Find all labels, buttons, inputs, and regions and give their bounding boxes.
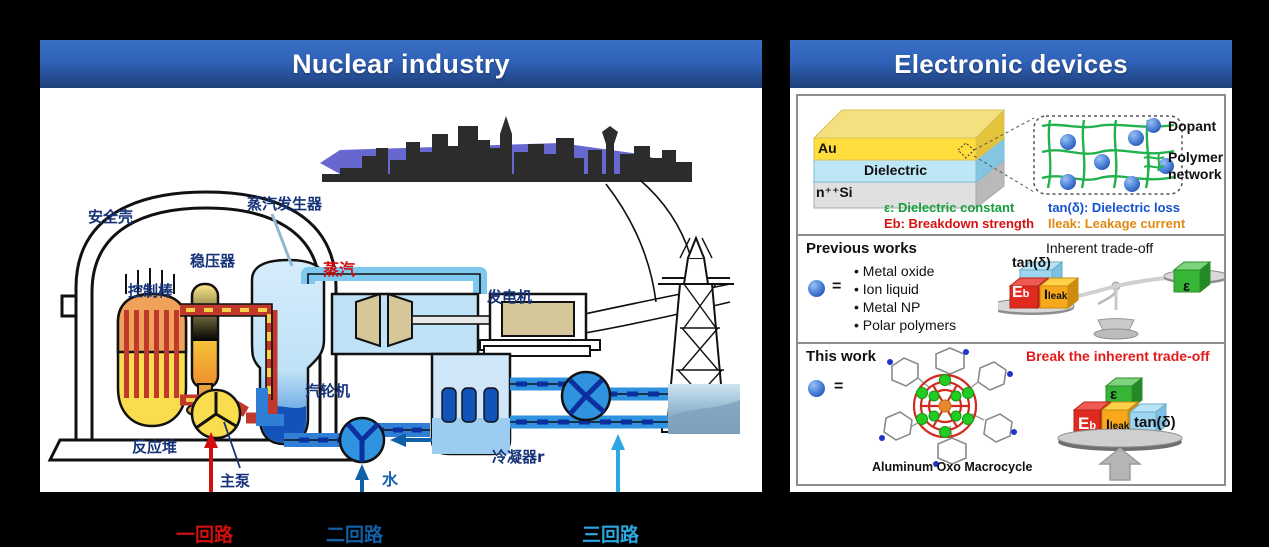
nuclear-plant-diagram: 安全壳 蒸汽发生器 稳压器 控制棒 蒸汽 发电机 汽轮机 反应堆 主泵 冷凝器r… (40, 88, 762, 492)
label-control-rod: 控制棒 (128, 280, 173, 301)
this-work-equals: = (834, 378, 843, 396)
device-section: Au Dielectric n⁺⁺Si Dopant Polymer netwo… (798, 96, 1224, 234)
property-epsilon-symbol: ε: (884, 200, 895, 215)
label-au: Au (818, 140, 837, 156)
label-dielectric: Dielectric (864, 162, 927, 178)
main-pump (192, 390, 240, 438)
label-tertiary-loop: 三回路 (582, 520, 639, 547)
this-work-cube-label-tandelta: tan(δ) (1134, 414, 1176, 431)
label-steam-generator: 蒸汽发生器 (247, 193, 322, 214)
previous-works-equals: = (832, 278, 841, 296)
list-item: • Ion liquid (854, 280, 956, 298)
legend-polymer-icon (1142, 152, 1166, 172)
balance-level-tray (1048, 372, 1218, 484)
label-secondary-loop: 二回路 (326, 520, 383, 547)
label-condenser: 冷凝器r (492, 446, 544, 467)
cube-label-ileak: Ileak (1044, 286, 1067, 302)
label-pressurizer: 稳压器 (190, 250, 235, 271)
property-tandelta-name: Dielectric loss (1092, 200, 1180, 215)
panel-nuclear-industry: Nuclear industry (40, 40, 762, 492)
this-work-section: This work = (798, 344, 1224, 486)
property-ileak-symbol: Ileak: (1048, 216, 1081, 231)
this-work-cube-label-ileak: Ileak (1106, 416, 1129, 432)
dopant-sphere (1060, 134, 1076, 150)
label-main-pump: 主泵 (220, 470, 250, 491)
cube-label-eb: Eb (1012, 284, 1029, 302)
panel-right-title: Electronic devices (790, 40, 1232, 88)
property-epsilon-name: Dielectric constant (898, 200, 1014, 215)
label-turbine: 汽轮机 (305, 380, 350, 401)
list-item: • Metal oxide (854, 262, 956, 280)
cube-group-light (1170, 258, 1216, 298)
label-substrate: n⁺⁺Si (816, 184, 853, 201)
dopant-sphere (1094, 154, 1110, 170)
property-ileak-name: Leakage current (1085, 216, 1185, 231)
inherent-tradeoff-caption: Inherent trade-off (1046, 240, 1153, 256)
this-work-cube-label-epsilon: ε (1110, 386, 1117, 403)
slide-canvas: Nuclear industry (0, 0, 1269, 528)
property-eb-name: Breakdown strength (908, 216, 1034, 231)
electronic-devices-figure: Au Dielectric n⁺⁺Si Dopant Polymer netwo… (796, 94, 1226, 486)
label-containment: 安全壳 (88, 206, 133, 227)
molecule-caption: Aluminum Oxo Macrocycle (872, 460, 1032, 474)
this-work-cube-label-eb: Eb (1078, 414, 1096, 434)
label-reactor: 反应堆 (132, 436, 177, 457)
previous-works-list: • Metal oxide • Ion liquid • Metal NP • … (854, 262, 956, 334)
city-skyline (322, 116, 692, 182)
property-eb-symbol: Eb: (884, 216, 905, 231)
cube-label-tandelta: tan(δ) (1012, 254, 1051, 270)
previous-works-heading: Previous works (806, 240, 917, 257)
dopant-sphere (1124, 176, 1140, 192)
panel-left-title: Nuclear industry (40, 40, 762, 88)
label-steam: 蒸汽 (323, 256, 355, 280)
property-ileak: Ileak: Leakage current (1048, 216, 1185, 231)
property-tandelta: tan(δ): Dielectric loss (1048, 200, 1180, 215)
cube-label-epsilon: ε (1183, 278, 1190, 295)
dopant-sphere (1128, 130, 1144, 146)
aluminum-oxo-macrocycle-structure (860, 344, 1030, 472)
break-tradeoff-caption: Break the inherent trade-off (1026, 348, 1210, 364)
property-epsilon: ε: Dielectric constant (884, 200, 1014, 215)
list-item: • Polar polymers (854, 316, 956, 334)
previous-works-section: Previous works = • Metal oxide • Ion liq… (798, 236, 1224, 342)
previous-works-dopant-icon (808, 280, 825, 297)
label-primary-loop: 一回路 (176, 520, 233, 547)
dopant-sphere (1060, 174, 1076, 190)
legend-dopant-label: Dopant (1168, 118, 1216, 134)
label-generator: 发电机 (487, 286, 532, 307)
legend-dopant-icon (1146, 118, 1161, 133)
legend-polymer-label-line2: network (1168, 166, 1222, 182)
tertiary-loop-piping (510, 372, 668, 422)
label-water: 水 (382, 466, 398, 490)
this-work-dopant-icon (808, 380, 825, 397)
property-eb: Eb: Breakdown strength (884, 216, 1034, 231)
central-atom (939, 400, 951, 412)
sea-water-image (668, 384, 740, 434)
panel-electronic-devices: Electronic devices (790, 40, 1232, 492)
legend-polymer-label-line1: Polymer (1168, 149, 1223, 165)
list-item: • Metal NP (854, 298, 956, 316)
property-tandelta-symbol: tan(δ): (1048, 200, 1088, 215)
